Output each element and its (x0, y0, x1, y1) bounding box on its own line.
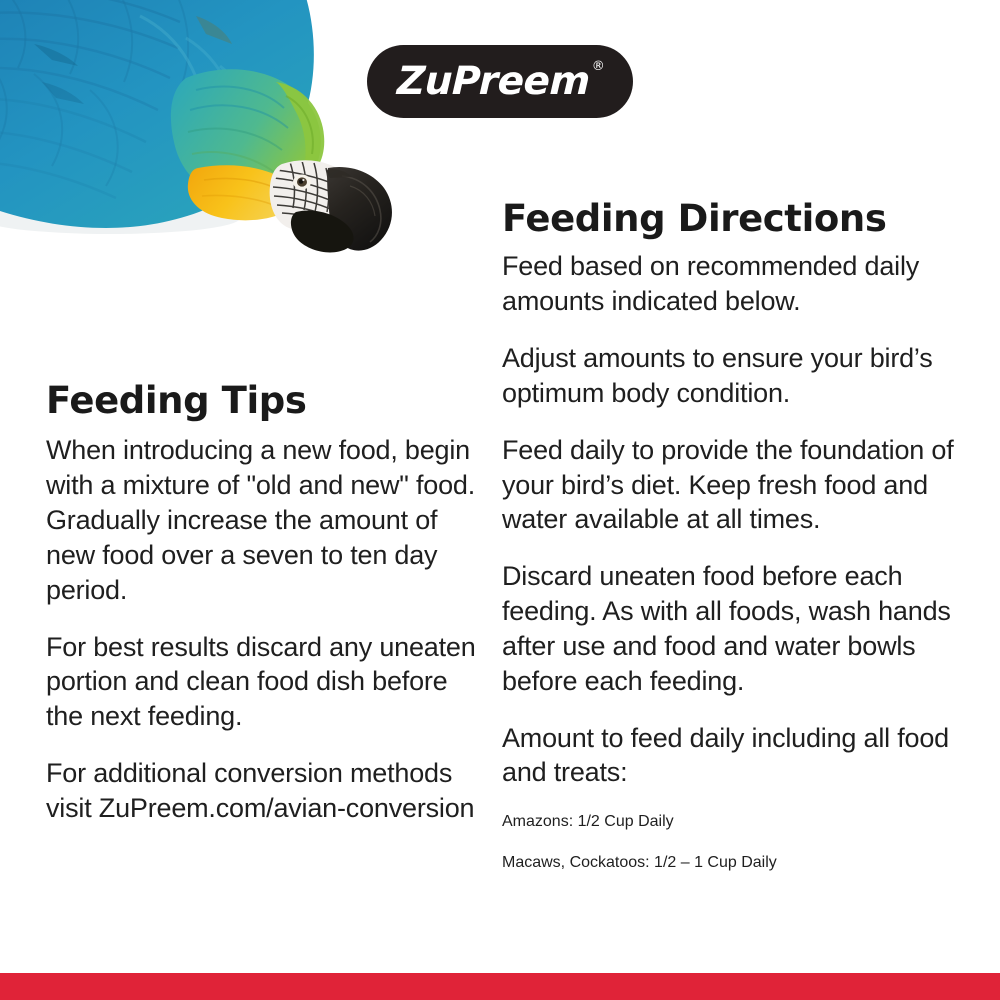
feeding-amount-intro: Amount to feed daily including all food … (502, 721, 962, 791)
feeding-directions-paragraph-3: Feed daily to provide the foundation of … (502, 433, 962, 537)
feeding-directions-paragraph-1: Feed based on recommended daily amounts … (502, 249, 962, 319)
macaw-hero-image (0, 0, 440, 266)
product-label-page: ZuPreem® Feeding Tips When introducing a… (0, 0, 1000, 1000)
feeding-amount-amazons: Amazons: 1/2 Cup Daily (502, 812, 962, 833)
feeding-directions-paragraph-4: Discard uneaten food before each feeding… (502, 559, 962, 698)
zupreem-logo: ZuPreem® (367, 45, 633, 118)
logo-wordmark: ZuPreem® (396, 62, 604, 101)
feeding-tips-section: Feeding Tips When introducing a new food… (46, 380, 476, 826)
feeding-directions-paragraph-2: Adjust amounts to ensure your bird’s opt… (502, 341, 962, 411)
feeding-tips-paragraph-2: For best results discard any uneaten por… (46, 630, 476, 734)
bottom-accent-bar (0, 973, 1000, 1000)
feeding-amounts-list: Amazons: 1/2 Cup Daily Macaws, Cockatoos… (502, 812, 962, 874)
feeding-directions-section: Feeding Directions Feed based on recomme… (502, 198, 962, 874)
feeding-amount-macaws-cockatoos: Macaws, Cockatoos: 1/2 – 1 Cup Daily (502, 853, 962, 874)
logo-text: ZuPreem (396, 59, 590, 104)
registered-trademark-icon: ® (591, 60, 604, 73)
feeding-directions-heading: Feeding Directions (502, 198, 962, 239)
feeding-tips-paragraph-3: For additional conversion methods visit … (46, 756, 476, 826)
feeding-tips-heading: Feeding Tips (46, 380, 476, 421)
feeding-tips-paragraph-1: When introducing a new food, begin with … (46, 433, 476, 607)
